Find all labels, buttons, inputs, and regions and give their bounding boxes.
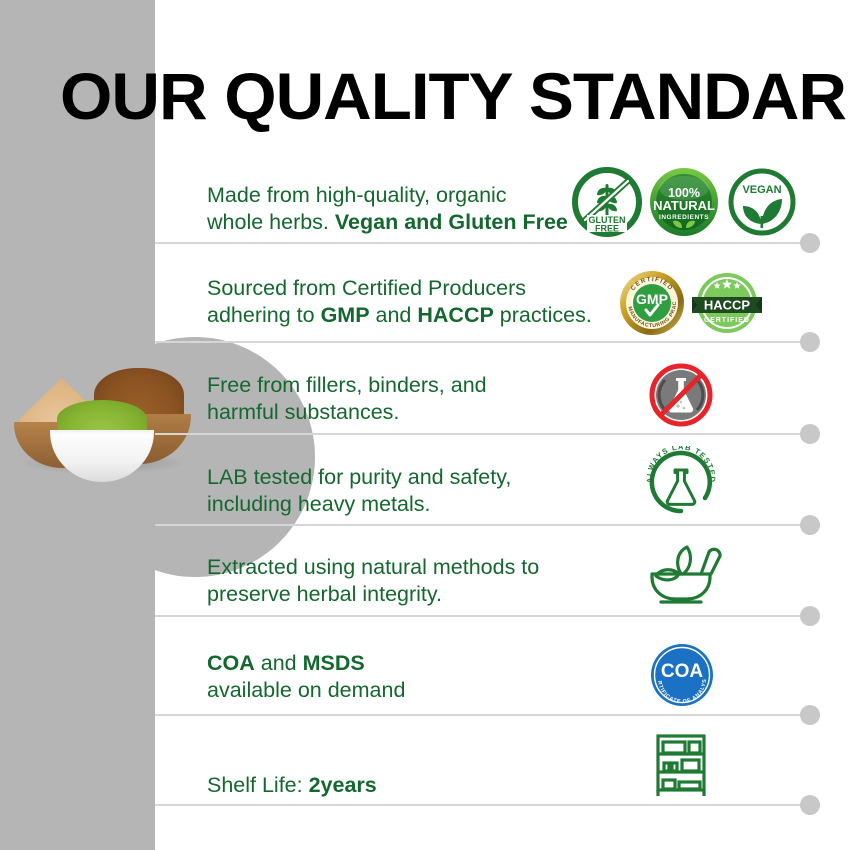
row-certified-line1: Sourced from Certified Producers <box>207 276 526 300</box>
row-dot-2 <box>800 332 820 352</box>
row-dot-6 <box>800 705 820 725</box>
white-bowl-front <box>50 430 154 482</box>
row-coa-line2: available on demand <box>207 678 405 702</box>
row-no-fillers-text: Free from fillers, binders, and harmful … <box>207 372 487 426</box>
gluten-free-label-bottom: FREE <box>595 224 619 234</box>
row-msds-label: MSDS <box>303 651 365 675</box>
gmp-center-label: GMP <box>636 291 668 307</box>
shelf-life-value: 2years <box>309 773 377 797</box>
mortar-pestle-icon <box>639 538 723 614</box>
vegan-label: VEGAN <box>742 184 781 196</box>
row-certified-p1: adhering to <box>207 303 321 327</box>
gluten-free-badge: GLUTEN FREE <box>571 166 643 238</box>
always-lab-tested-badge: ALWAYS LAB TESTED <box>645 446 717 518</box>
page-title: OUR QUALITY STANDARDS <box>60 58 850 134</box>
row-divider-7 <box>155 804 810 806</box>
row-divider-4 <box>155 524 810 526</box>
shelf-rack-icon <box>650 730 712 796</box>
natural-label-mid: NATURAL <box>653 198 715 213</box>
row-certified-haccp: HACCP <box>417 303 493 327</box>
row-organic-line2-plain: whole herbs. <box>207 210 335 234</box>
shelf-life-label: Shelf Life: <box>207 773 309 797</box>
row-certified-p3: practices. <box>494 303 592 327</box>
row-extraction-text: Extracted using natural methods to prese… <box>207 554 539 608</box>
row-certified-text: Sourced from Certified Producers adherin… <box>207 275 592 329</box>
coa-center-label: COA <box>661 661 704 682</box>
no-chemicals-icon <box>646 360 716 430</box>
natural-label-bottom: INGREDIENTS <box>659 214 709 221</box>
row-lab-tested-line1: LAB tested for purity and safety, <box>207 465 511 489</box>
herbal-powder-bowls-image <box>8 360 198 490</box>
row-dot-7 <box>800 795 820 815</box>
row-coa-text: COA and MSDS available on demand <box>207 650 405 704</box>
row-organic-line1: Made from high-quality, organic <box>207 183 507 207</box>
100-natural-badge: 100% NATURAL INGREDIENTS <box>648 166 720 238</box>
row-coa-and: and <box>255 651 303 675</box>
row-extraction-line1: Extracted using natural methods to <box>207 555 539 579</box>
row-coa-label: COA <box>207 651 255 675</box>
row-extraction-line2: preserve herbal integrity. <box>207 582 442 606</box>
row-dot-3 <box>800 424 820 444</box>
row-certified-gmp: GMP <box>321 303 370 327</box>
bowl-green-powder <box>50 400 154 484</box>
row-divider-1 <box>155 242 810 244</box>
row-organic-line2-bold: Vegan and Gluten Free <box>335 210 568 234</box>
haccp-badge: CERTIFIED HACCP <box>692 270 762 336</box>
gmp-badge: CERTIFIED GOOD MANUFACTURING PRACTICE GM… <box>619 270 685 336</box>
row-divider-3 <box>155 433 810 435</box>
row-dot-1 <box>800 233 820 253</box>
row-lab-tested-line2: including heavy metals. <box>207 492 430 516</box>
row-shelf-life-text: Shelf Life: 2years <box>207 772 377 799</box>
row-dot-4 <box>800 515 820 535</box>
coa-badge: COA CERTIFICATE OF ANALYSIS <box>648 641 716 709</box>
row-organic-text: Made from high-quality, organic whole he… <box>207 182 568 236</box>
row-no-fillers-line2: harmful substances. <box>207 400 399 424</box>
row-no-fillers-line1: Free from fillers, binders, and <box>207 373 487 397</box>
haccp-sub-label: CERTIFIED <box>704 317 750 324</box>
haccp-center-label: HACCP <box>704 298 751 313</box>
row-dot-5 <box>800 606 820 626</box>
infographic-page: OUR QUALITY STANDARDS Made from high-qua… <box>0 0 850 850</box>
vegan-badge: VEGAN <box>726 166 798 238</box>
row-lab-tested-text: LAB tested for purity and safety, includ… <box>207 464 511 518</box>
row-divider-5 <box>155 615 810 617</box>
row-certified-p2: and <box>370 303 418 327</box>
row-divider-6 <box>155 714 810 716</box>
row-divider-2 <box>155 341 810 343</box>
